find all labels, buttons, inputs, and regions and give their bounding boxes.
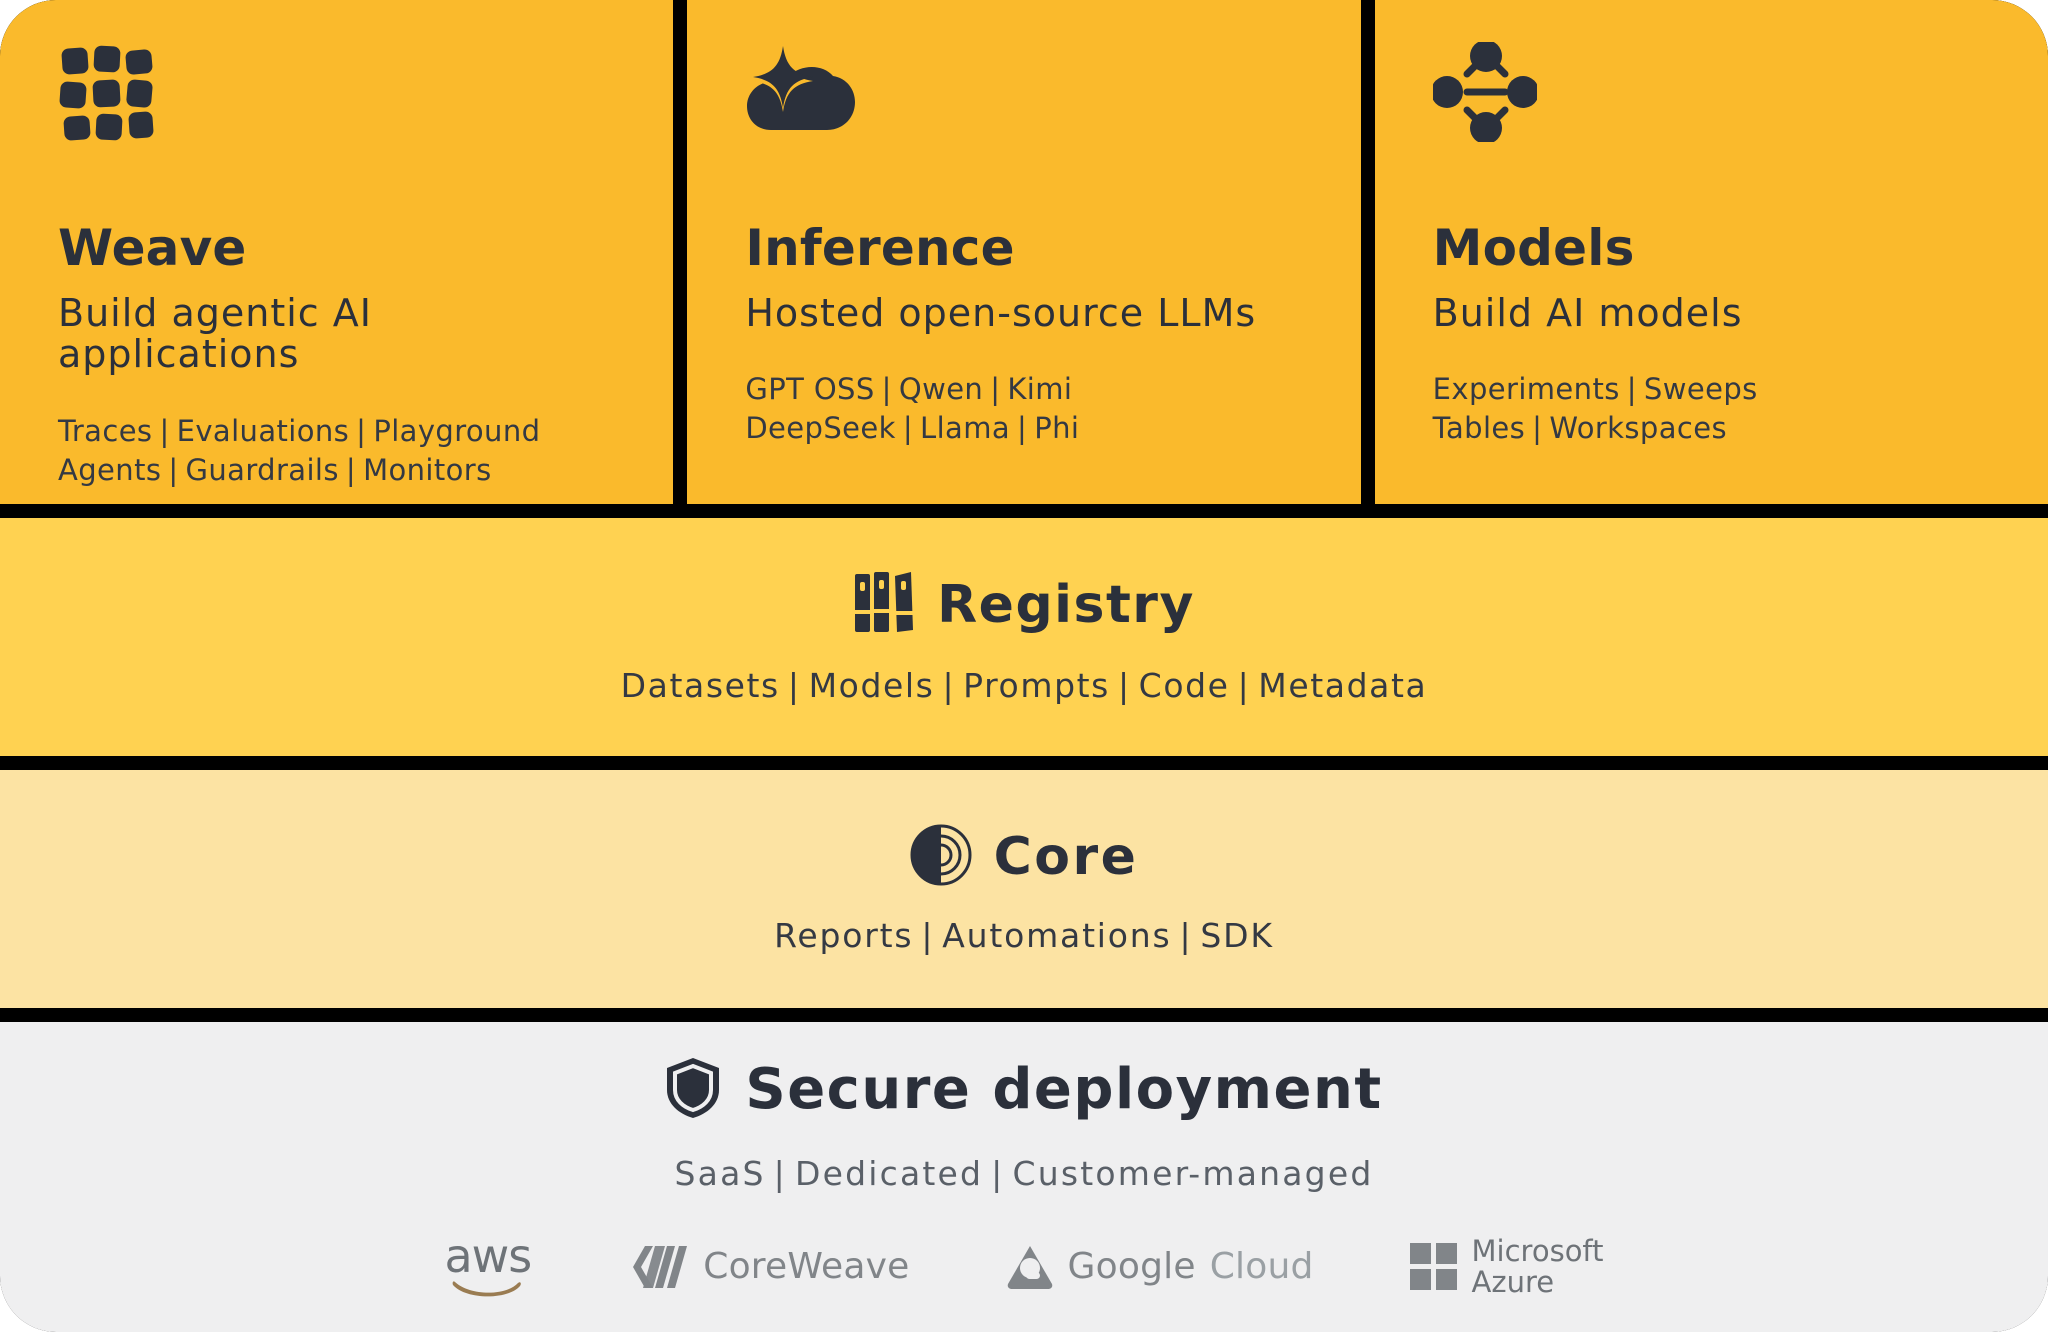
registry-band[interactable]: Registry Datasets|Models|Prompts|Code|Me… [0,518,2048,756]
azure-label-line1: Microsoft [1472,1236,1604,1266]
card-feature-list: Traces|Evaluations|Playground Agents|Gua… [58,412,615,490]
microsoft-squares-icon [1410,1243,1458,1291]
card-subtitle: Build agentic AI applications [58,293,615,377]
card-feature-list: Experiments|Sweeps Tables|Workspaces [1433,370,1990,448]
google-cloud-logo[interactable]: Google Cloud [1006,1244,1314,1290]
grid-tiles-icon [58,42,615,160]
core-title: Core [994,827,1139,887]
binders-icon [853,570,915,640]
feature-line: GPT OSS|Qwen|Kimi [745,370,1302,409]
coreweave-logo-label: CoreWeave [703,1246,909,1287]
aws-smile-icon [452,1278,524,1298]
registry-feature-list: Datasets|Models|Prompts|Code|Metadata [621,666,1428,705]
azure-logo-label: Microsoft Azure [1472,1236,1604,1297]
feature-line: Agents|Guardrails|Monitors [58,451,615,490]
card-subtitle: Hosted open-source LLMs [745,293,1302,335]
card-title: Models [1433,222,1990,275]
google-cloud-label-cloud: Cloud [1210,1246,1314,1287]
cloud-provider-logos: aws CoreWeave [444,1235,1603,1299]
card-title: Weave [58,222,615,275]
core-feature-list: Reports|Automations|SDK [774,916,1274,955]
secure-feature-list: SaaS|Dedicated|Customer-managed [675,1154,1374,1193]
feature-line: Traces|Evaluations|Playground [58,412,615,451]
core-band[interactable]: Core Reports|Automations|SDK [0,770,2048,1008]
card-title: Inference [745,222,1302,275]
coreweave-logo[interactable]: CoreWeave [627,1244,909,1290]
card-inference[interactable]: Inference Hosted open-source LLMs GPT OS… [687,0,1360,504]
card-subtitle: Build AI models [1433,293,1990,335]
google-cloud-mark-icon [1006,1244,1054,1290]
secure-title: Secure deployment [745,1057,1382,1122]
core-header: Core [910,824,1139,890]
secure-header: Secure deployment [665,1056,1382,1124]
google-cloud-label-google: Google [1068,1246,1196,1287]
card-weave[interactable]: Weave Build agentic AI applications Trac… [0,0,673,504]
card-feature-list: GPT OSS|Qwen|Kimi DeepSeek|Llama|Phi [745,370,1302,448]
aws-logo-label: aws [444,1235,531,1279]
core-circle-icon [910,824,972,890]
feature-line: Tables|Workspaces [1433,409,1990,448]
shield-icon [665,1056,721,1124]
registry-header: Registry [853,570,1195,640]
product-cards-row: Weave Build agentic AI applications Trac… [0,0,2048,504]
cloud-sparkle-icon [745,42,1302,160]
registry-title: Registry [937,575,1195,635]
secure-deployment-band[interactable]: Secure deployment SaaS|Dedicated|Custome… [0,1022,2048,1332]
feature-line: DeepSeek|Llama|Phi [745,409,1302,448]
node-graph-icon [1433,42,1990,160]
feature-line: Experiments|Sweeps [1433,370,1990,409]
card-models[interactable]: Models Build AI models Experiments|Sweep… [1375,0,2048,504]
azure-label-line2: Azure [1472,1267,1604,1297]
microsoft-azure-logo[interactable]: Microsoft Azure [1410,1236,1604,1297]
platform-stack-diagram: Weave Build agentic AI applications Trac… [0,0,2048,1332]
aws-logo[interactable]: aws [444,1235,531,1299]
coreweave-mark-icon [627,1244,689,1290]
